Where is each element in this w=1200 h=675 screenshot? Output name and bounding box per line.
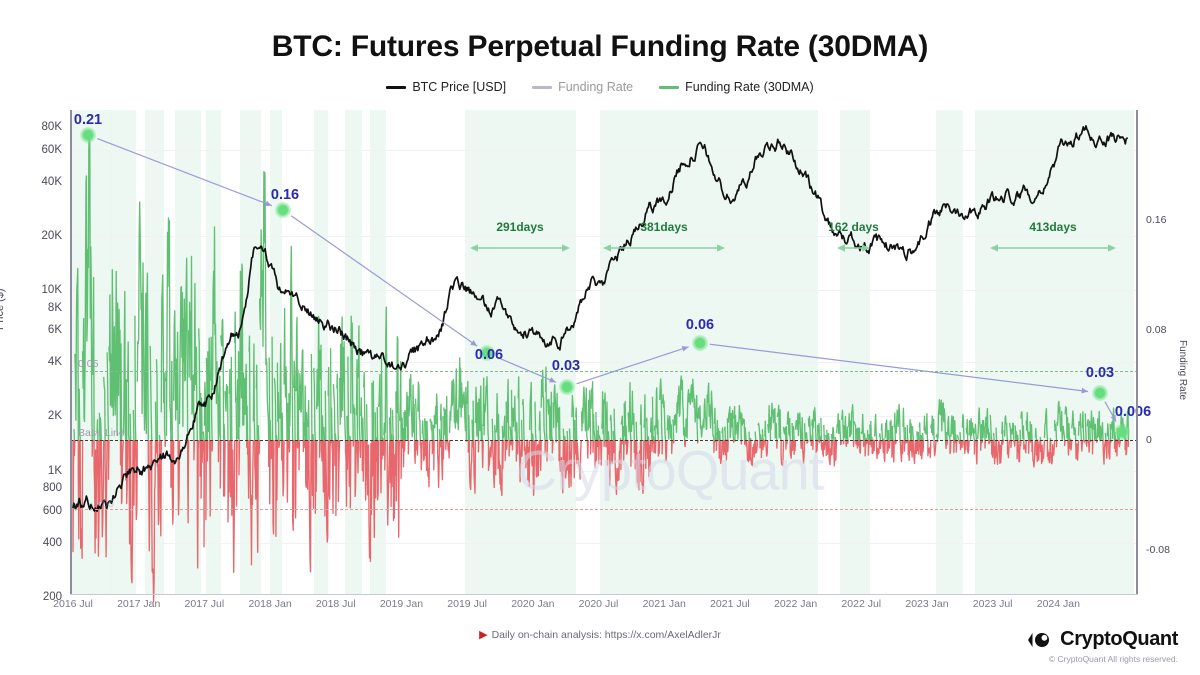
duration-span-arrow: [470, 242, 570, 252]
duration-span-arrow: [990, 242, 1116, 252]
peak-marker: [1114, 424, 1130, 440]
y-tick-left: 400: [43, 537, 62, 549]
x-tick: 2019 Jan: [380, 598, 423, 610]
y-axis-right-title: Funding Rate: [1177, 340, 1188, 400]
peak-marker: [80, 127, 96, 143]
y-tick-left: 20K: [42, 230, 62, 242]
x-tick: 2022 Jan: [774, 598, 817, 610]
x-tick: 2016 Jul: [53, 598, 93, 610]
y-tick-right: 0: [1146, 434, 1152, 446]
legend-item-2: Funding Rate (30DMA): [659, 80, 814, 94]
y-tick-left: 800: [43, 482, 62, 494]
footnote: ▶Daily on-chain analysis: https://x.com/…: [0, 628, 1200, 641]
duration-span-label: 381days: [640, 220, 687, 234]
chart-legend: BTC Price [USD]Funding RateFunding Rate …: [0, 80, 1200, 94]
legend-swatch-icon: [386, 86, 406, 89]
peak-marker: [692, 335, 708, 351]
duration-span-label: 291days: [496, 220, 543, 234]
x-tick: 2019 Jul: [447, 598, 487, 610]
duration-span-label: 162 days: [828, 220, 879, 234]
legend-label: BTC Price [USD]: [412, 80, 506, 94]
y-tick-right: 0.08: [1146, 324, 1166, 336]
reference-line-label-upper: 0.05: [78, 358, 98, 370]
x-tick: 2024 Jan: [1037, 598, 1080, 610]
x-axis: 2016 Jul2017 Jan2017 Jul2018 Jan2018 Jul…: [70, 598, 1138, 618]
legend-item-0: BTC Price [USD]: [386, 80, 506, 94]
y-tick-right: 0.16: [1146, 214, 1166, 226]
axis-right-spine: [1136, 110, 1138, 595]
axis-bottom-spine: [70, 594, 1138, 595]
legend-label: Funding Rate: [558, 80, 633, 94]
funding-rate-negative-path: [73, 440, 1128, 601]
y-tick-left: 10K: [42, 284, 62, 296]
duration-span-arrow: [837, 242, 870, 252]
cryptoquant-logo-icon: [1027, 631, 1053, 649]
peak-marker: [559, 379, 575, 395]
duration-span-arrow: [603, 242, 725, 252]
series-layer: [70, 110, 1138, 595]
x-tick: 2021 Jan: [643, 598, 686, 610]
legend-swatch-icon: [532, 86, 552, 89]
peak-marker: [1092, 385, 1108, 401]
duration-span-label: 413days: [1029, 220, 1076, 234]
funding-rate-positive-path: [74, 131, 1128, 440]
brand-copyright: © CryptoQuant All rights reserved.: [1027, 654, 1178, 664]
peak-marker: [275, 202, 291, 218]
x-tick: 2018 Jul: [316, 598, 356, 610]
x-tick: 2017 Jul: [185, 598, 225, 610]
y-tick-left: 6K: [48, 324, 62, 336]
x-tick: 2020 Jul: [579, 598, 619, 610]
axis-left-spine: [70, 110, 72, 595]
x-tick: 2018 Jan: [248, 598, 291, 610]
reference-line-lower: [70, 509, 1138, 510]
page-title: BTC: Futures Perpetual Funding Rate (30D…: [0, 30, 1200, 64]
x-tick: 2023 Jan: [905, 598, 948, 610]
chart-root: BTC: Futures Perpetual Funding Rate (30D…: [0, 0, 1200, 675]
y-axis-right: 0.160.080-0.08: [1146, 110, 1196, 595]
flag-icon: ▶: [479, 629, 487, 641]
reference-line-label-lower: -0.05: [90, 498, 114, 510]
y-tick-left: 2K: [48, 410, 62, 422]
y-tick-left: 8K: [48, 302, 62, 314]
peak-label: 0.03: [1086, 365, 1114, 381]
peak-label: 0.21: [74, 112, 102, 128]
brand-name: CryptoQuant: [1060, 628, 1178, 651]
y-tick-left: 600: [43, 505, 62, 517]
reference-line-label-baseline: Base Line: [78, 427, 125, 439]
x-tick: 2020 Jan: [511, 598, 554, 610]
legend-label: Funding Rate (30DMA): [685, 80, 814, 94]
y-tick-right: -0.08: [1146, 544, 1170, 556]
brand-block: CryptoQuant © CryptoQuant All rights res…: [1027, 628, 1178, 664]
y-tick-left: 40K: [42, 176, 62, 188]
peak-label: 0.03: [552, 358, 580, 374]
x-tick: 2022 Jul: [841, 598, 881, 610]
peak-label: 0.006: [1115, 404, 1151, 420]
legend-swatch-icon: [659, 86, 679, 89]
y-axis-left: 80K60K40K20K10K8K6K4K2K1K800600400200: [0, 110, 62, 595]
y-tick-left: 60K: [42, 144, 62, 156]
x-tick: 2023 Jul: [973, 598, 1013, 610]
y-axis-left-title: Price ($): [0, 288, 6, 330]
reference-line-baseline: [70, 440, 1138, 441]
footnote-text: Daily on-chain analysis: https://x.com/A…: [492, 629, 721, 641]
peak-label: 0.06: [475, 347, 503, 363]
x-tick: 2021 Jul: [710, 598, 750, 610]
peak-label: 0.06: [686, 317, 714, 333]
plot-area: CryptoQuant 0.05Base Line-0.05 291days38…: [70, 110, 1138, 595]
y-tick-left: 1K: [48, 465, 62, 477]
peak-label: 0.16: [271, 187, 299, 203]
y-tick-left: 4K: [48, 356, 62, 368]
reference-line-upper: [70, 371, 1138, 372]
legend-item-1: Funding Rate: [532, 80, 633, 94]
y-tick-left: 80K: [42, 121, 62, 133]
